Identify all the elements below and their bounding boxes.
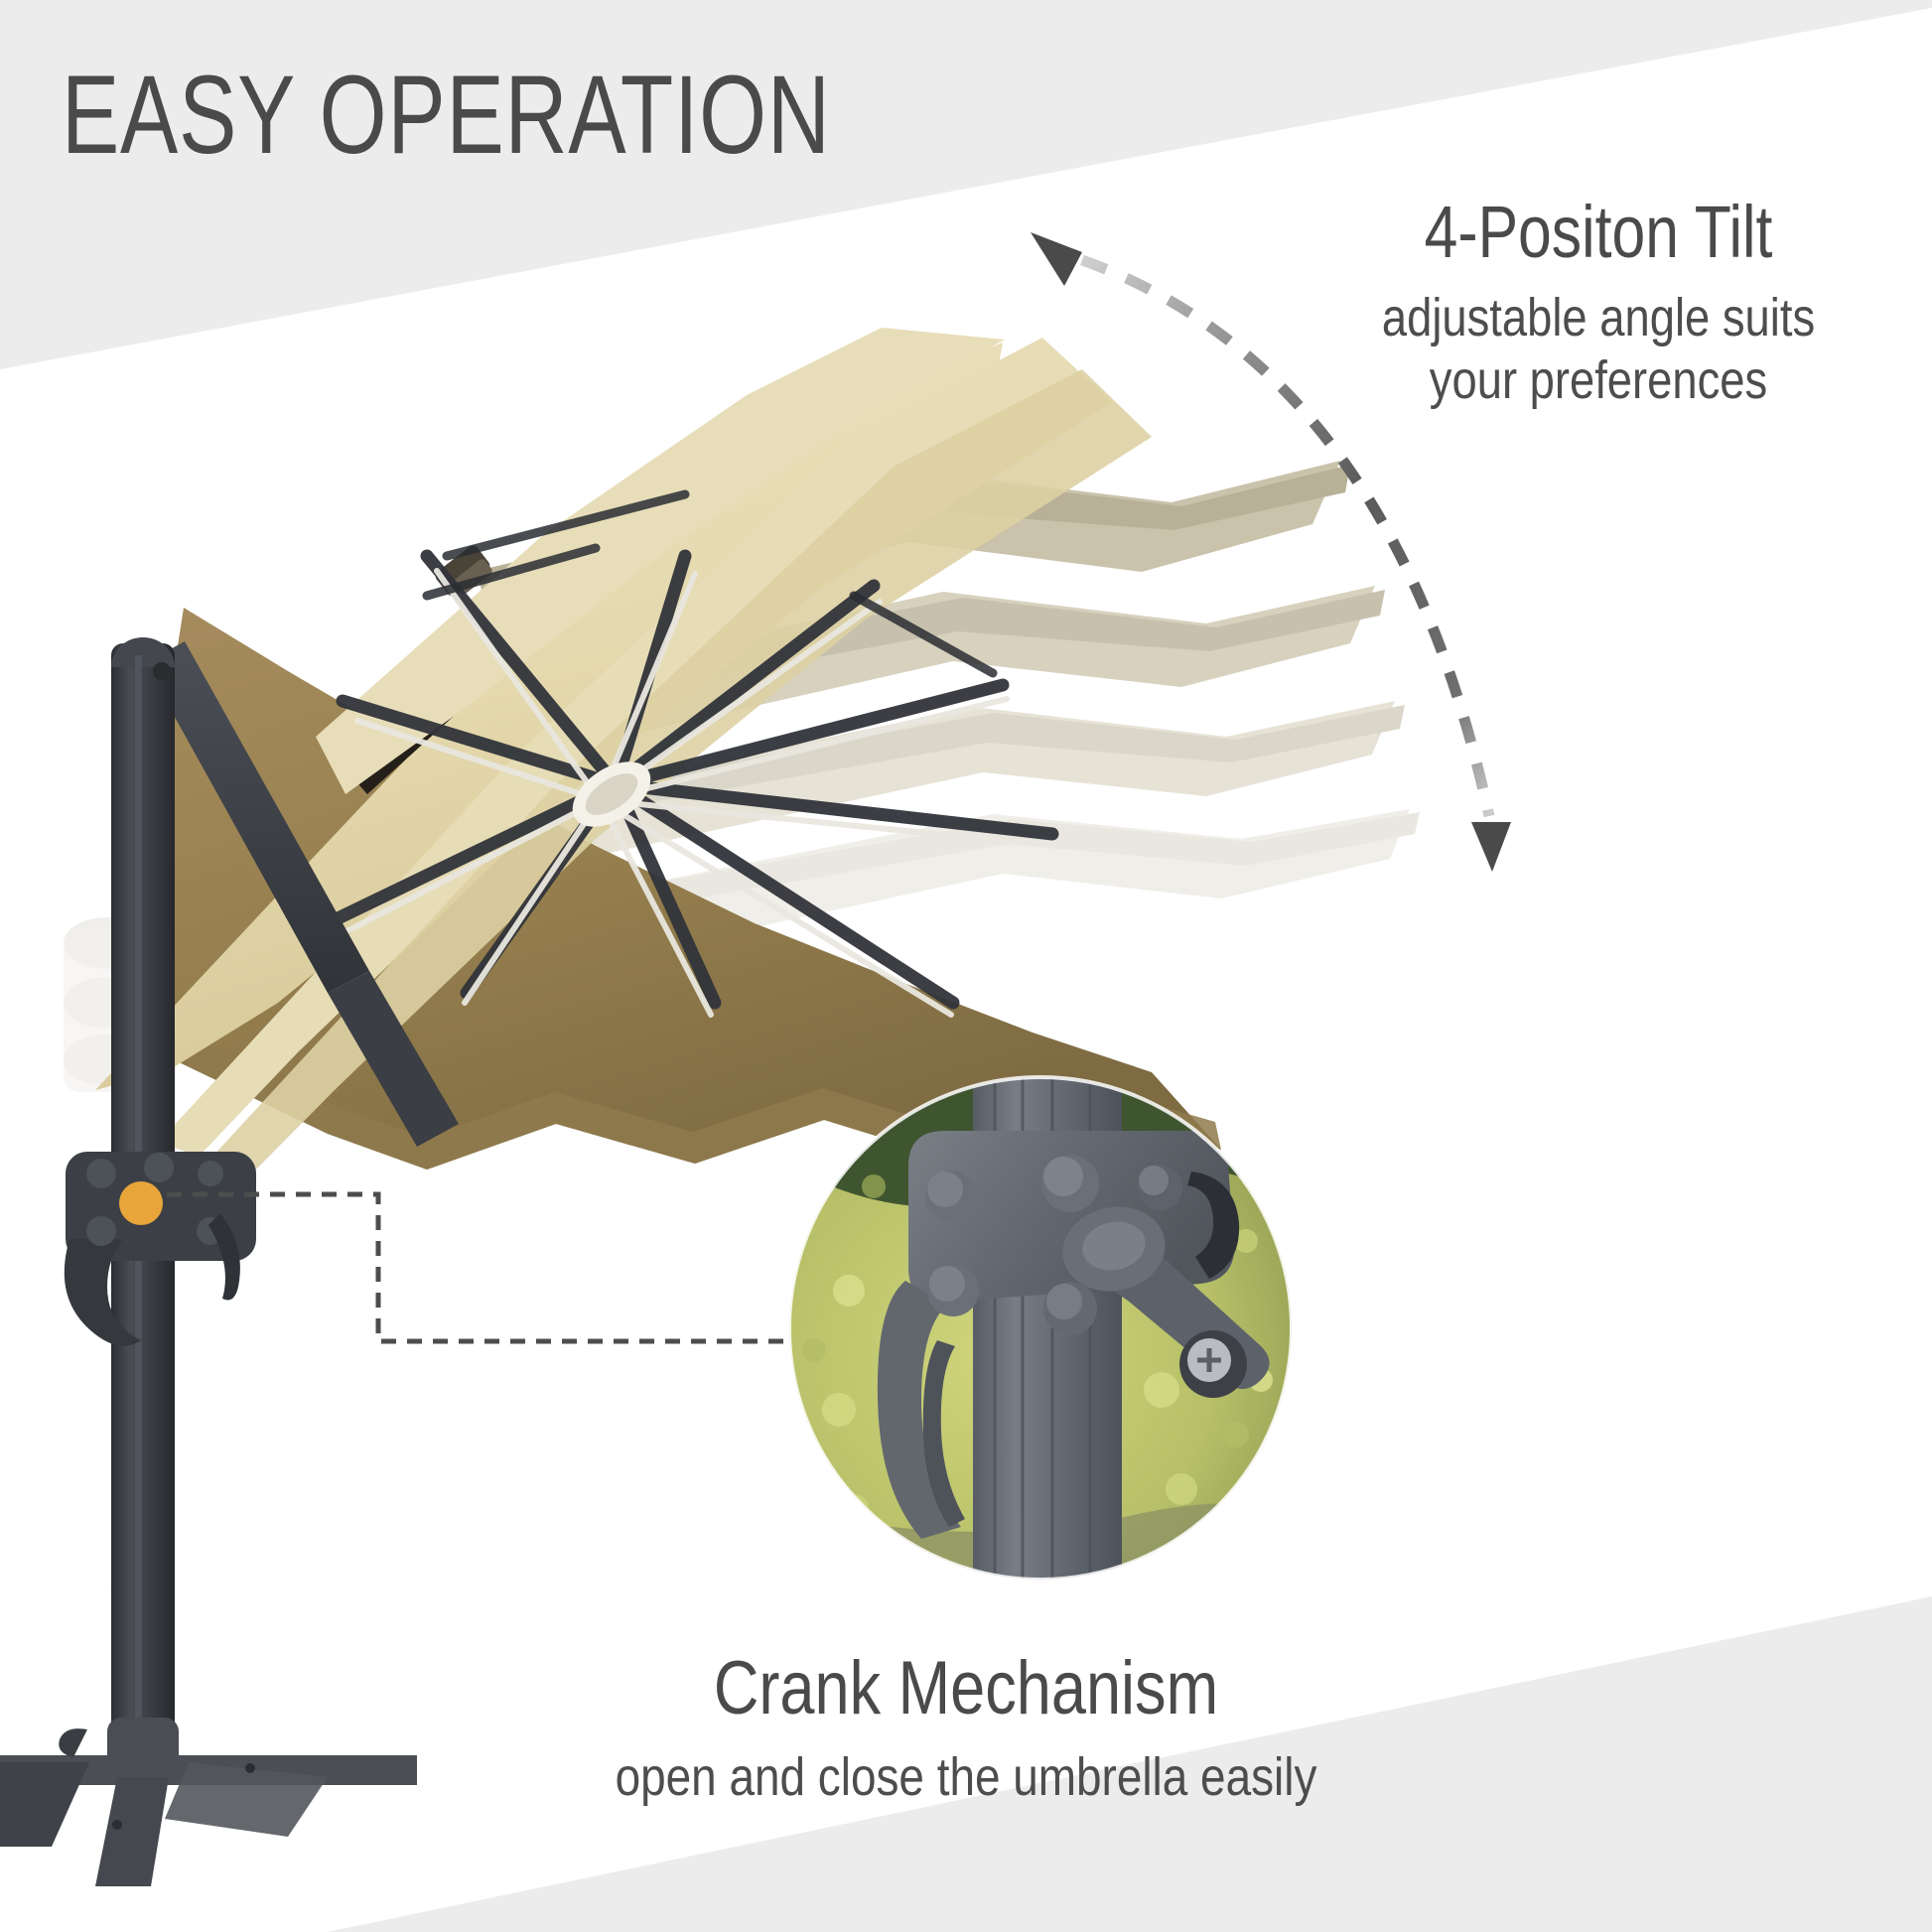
crank-caption: Crank Mechanism open and close the umbre… bbox=[370, 1651, 1562, 1804]
page-title: EASY OPERATION bbox=[62, 60, 831, 171]
dashed-leader-line-icon bbox=[167, 1194, 794, 1341]
tilt-callout-title: 4-Positon Tilt bbox=[1338, 194, 1860, 271]
tilt-callout-subtitle-line1: adjustable angle suits bbox=[1331, 287, 1865, 350]
crank-caption-subtitle: open and close the umbrella easily bbox=[460, 1750, 1472, 1804]
tilt-callout: 4-Positon Tilt adjustable angle suits yo… bbox=[1281, 194, 1916, 413]
crank-caption-title: Crank Mechanism bbox=[472, 1651, 1460, 1726]
triangle-arrowhead-left-icon bbox=[1031, 232, 1082, 286]
tilt-callout-subtitle-line2: your preferences bbox=[1331, 349, 1865, 413]
infographic-canvas: EASY OPERATION 4-Positon Tilt adjustable… bbox=[0, 0, 1932, 1932]
tilt-callout-subtitle: adjustable angle suits your preferences bbox=[1331, 287, 1865, 413]
triangle-arrowhead-down-icon bbox=[1471, 822, 1511, 872]
